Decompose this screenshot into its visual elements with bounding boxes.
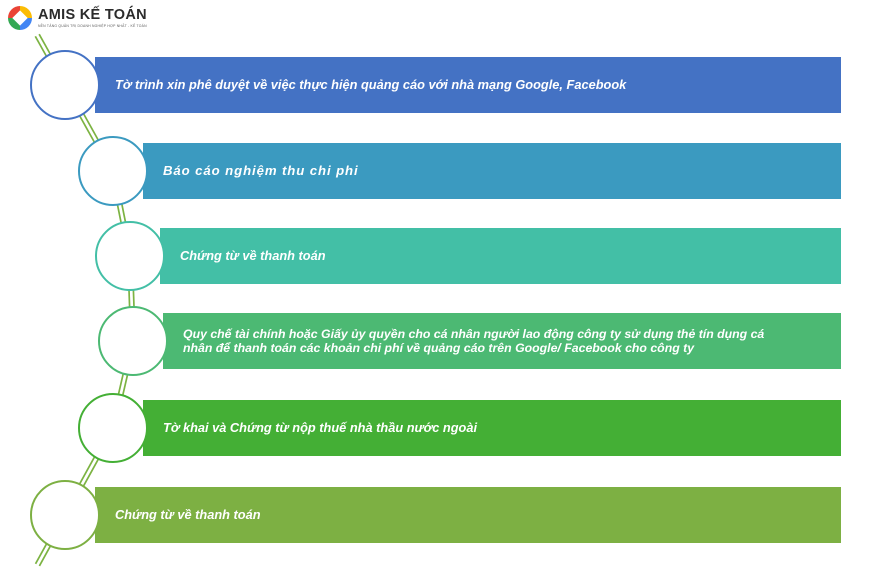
step-node-circle[interactable] <box>30 480 100 550</box>
step-node-circle[interactable] <box>98 306 168 376</box>
step-label: Tờ khai và Chứng từ nộp thuế nhà thầu nư… <box>163 421 497 436</box>
step-label: Tờ trình xin phê duyệt về việc thực hiện… <box>115 78 646 93</box>
step-label: Chứng từ về thanh toán <box>115 508 281 523</box>
step-label: Chứng từ về thanh toán <box>180 249 346 264</box>
step-bar[interactable]: Tờ trình xin phê duyệt về việc thực hiện… <box>95 57 841 113</box>
step-node-circle[interactable] <box>78 136 148 206</box>
step-node-circle[interactable] <box>78 393 148 463</box>
step-bar[interactable]: Chứng từ về thanh toán <box>160 228 841 284</box>
step-bar[interactable]: Tờ khai và Chứng từ nộp thuế nhà thầu nư… <box>143 400 841 456</box>
step-node-circle[interactable] <box>30 50 100 120</box>
step-node-circle[interactable] <box>95 221 165 291</box>
step-bar[interactable]: Quy chế tài chính hoặc Giấy ủy quyền cho… <box>163 313 841 369</box>
step-bar[interactable]: Chứng từ về thanh toán <box>95 487 841 543</box>
step-bar[interactable]: Báo cáo nghiệm thu chi phi <box>143 143 841 199</box>
process-diagram: Tờ trình xin phê duyệt về việc thực hiện… <box>0 0 879 568</box>
step-label: Báo cáo nghiệm thu chi phi <box>163 164 379 179</box>
step-label: Quy chế tài chính hoặc Giấy ủy quyền cho… <box>183 327 784 356</box>
